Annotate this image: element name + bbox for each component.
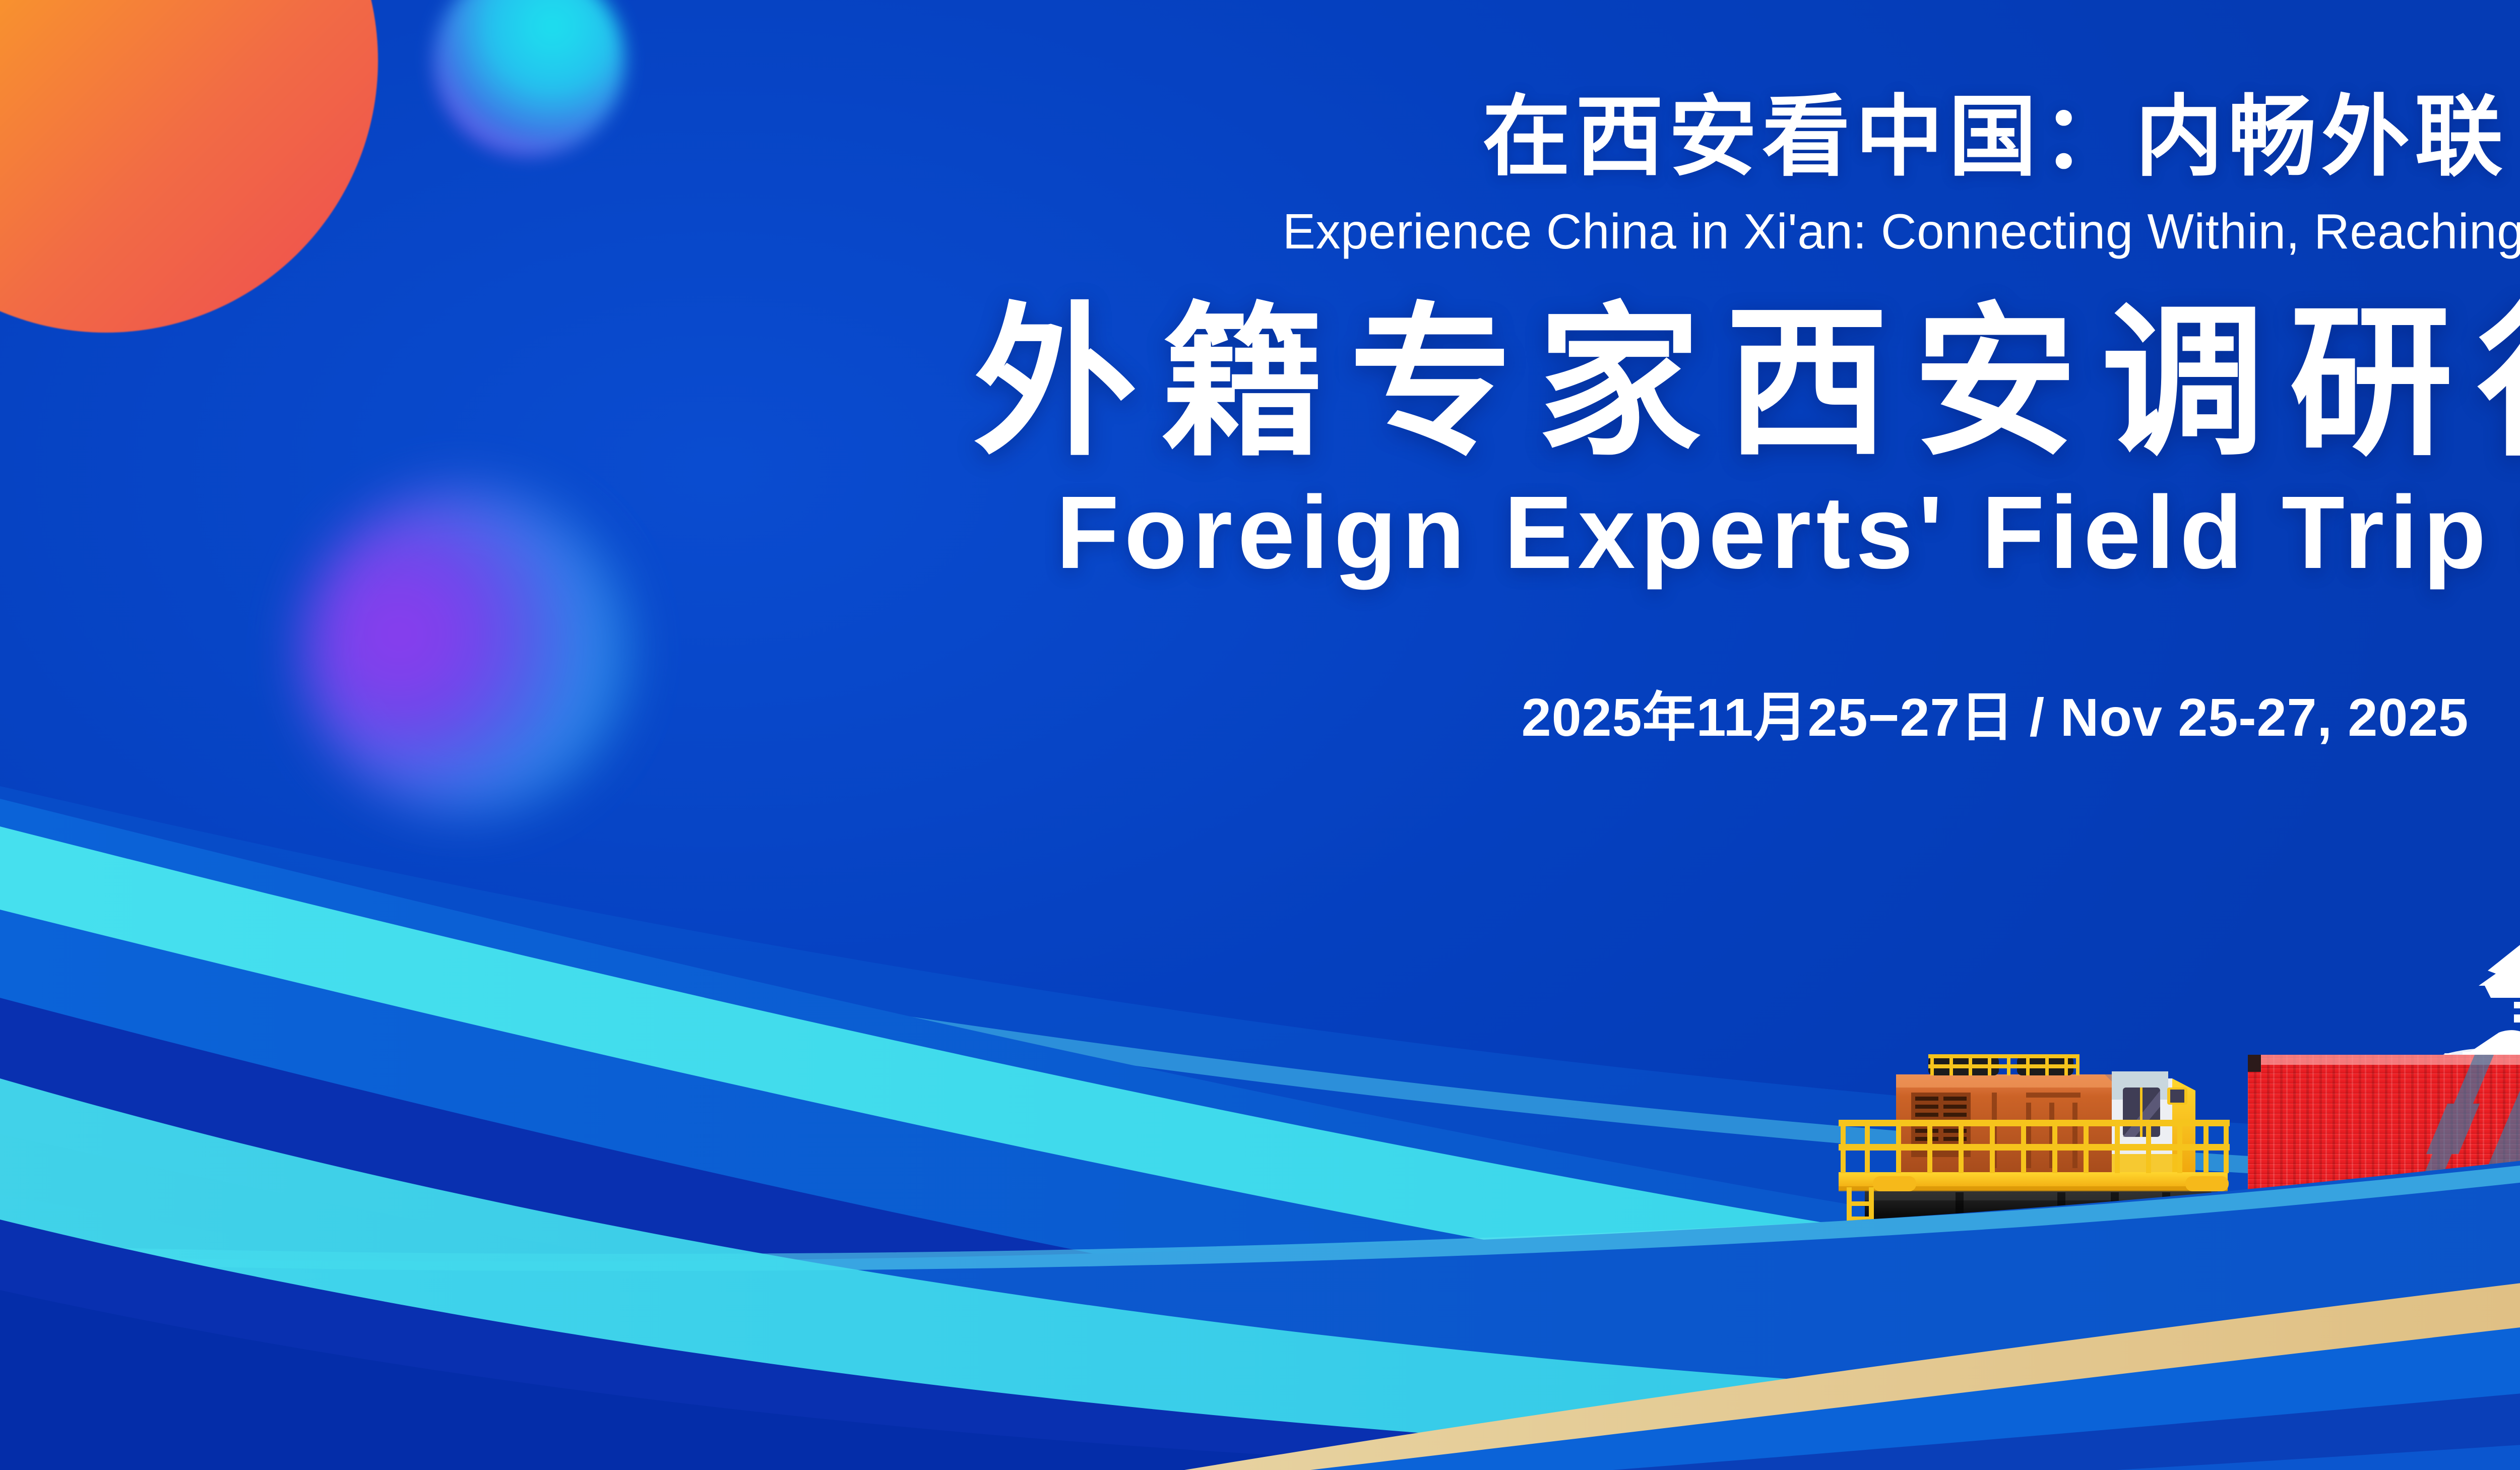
page-title-english: Foreign Experts' Field Trip to Xi'an bbox=[0, 478, 2520, 587]
page-title-chinese: 外籍专家西安调研行活动 bbox=[0, 299, 2520, 468]
kicker-english: Experience China in Xi'an: Connecting Wi… bbox=[0, 202, 2520, 262]
event-banner: 在西安看中国：内畅外联 Experience China in Xi'an: C… bbox=[0, 0, 2520, 1470]
event-date: 2025年11月25−27日 / Nov 25-27, 2025 bbox=[0, 686, 2520, 750]
kicker-chinese: 在西安看中国：内畅外联 bbox=[0, 88, 2520, 187]
banner-text-block: 在西安看中国：内畅外联 Experience China in Xi'an: C… bbox=[0, 0, 2520, 750]
